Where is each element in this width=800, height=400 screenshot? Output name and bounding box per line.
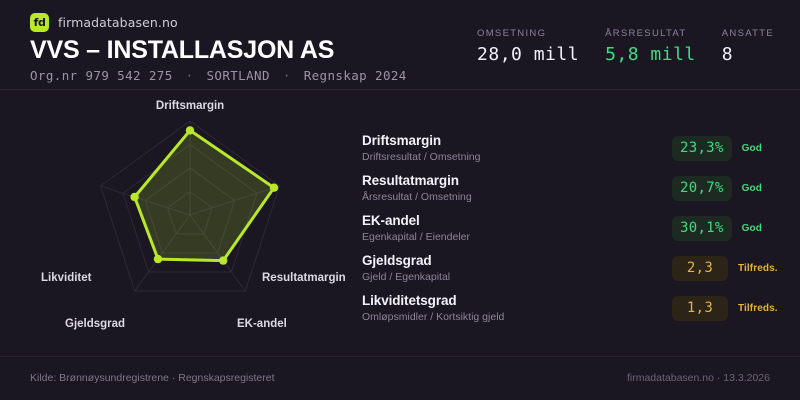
metric-name: EK-andel — [362, 213, 672, 228]
company-city: SORTLAND — [206, 68, 269, 83]
header: fd firmadatabasen.no VVS – INSTALLASJON … — [0, 0, 800, 90]
metric-value-badge: 30,1% — [672, 216, 732, 241]
kpi-label: ANSATTE — [722, 28, 774, 39]
metric-right: 1,3 Tilfreds. — [672, 296, 778, 321]
metric-name: Driftsmargin — [362, 133, 672, 148]
metric-name: Gjeldsgrad — [362, 253, 672, 268]
radar-data-point — [130, 193, 138, 201]
metric-value-badge: 2,3 — [672, 256, 728, 281]
radar-data-point — [186, 126, 194, 134]
brand-name: firmadatabasen.no — [58, 15, 178, 30]
metric-text: EK-andel Egenkapital / Eiendeler — [362, 213, 672, 243]
radar-series-area — [135, 130, 274, 260]
status-badge: God — [742, 223, 762, 234]
radar-axis-label-likviditet: Likviditet — [41, 272, 91, 284]
radar-chart: Driftsmargin Resultatmargin EK-andel Gje… — [0, 90, 355, 340]
radar-axis-label-gjeldsgrad: Gjeldsgrad — [65, 318, 125, 330]
metric-formula: Driftsresultat / Omsetning — [362, 151, 672, 163]
org-number: Org.nr 979 542 275 — [30, 68, 173, 83]
radar-axis-label-ek-andel: EK-andel — [237, 318, 287, 330]
metric-text: Gjeldsgrad Gjeld / Egenkapital — [362, 253, 672, 283]
footer: Kilde: Brønnøysundregistrene · Regnskaps… — [0, 356, 800, 400]
status-badge: God — [742, 183, 762, 194]
meta-separator: · — [181, 68, 199, 83]
metric-value-badge: 23,3% — [672, 136, 732, 161]
metric-text: Likviditetsgrad Omløpsmidler / Kortsikti… — [362, 293, 672, 323]
metric-right: 23,3% God — [672, 136, 762, 161]
metric-row-likviditetsgrad: Likviditetsgrad Omløpsmidler / Kortsikti… — [362, 288, 782, 328]
kpi-value: 8 — [722, 46, 774, 64]
page-title: VVS – INSTALLASJON AS — [30, 36, 334, 65]
company-meta: Org.nr 979 542 275 · SORTLAND · Regnskap… — [30, 68, 407, 83]
metric-text: Driftsmargin Driftsresultat / Omsetning — [362, 133, 672, 163]
radar-axis-label-resultatmargin: Resultatmargin — [262, 272, 346, 284]
metric-value-badge: 20,7% — [672, 176, 732, 201]
kpi-strip: OMSETNING 28,0 mill ÅRSRESULTAT 5,8 mill… — [477, 28, 774, 64]
kpi-omsetning: OMSETNING 28,0 mill — [477, 28, 579, 64]
status-badge: Tilfreds. — [738, 303, 778, 314]
metric-formula: Egenkapital / Eiendeler — [362, 231, 672, 243]
radar-axis-label-driftsmargin: Driftsmargin — [156, 100, 224, 112]
kpi-value: 28,0 mill — [477, 46, 579, 64]
radar-data-point — [154, 255, 162, 263]
kpi-label: ÅRSRESULTAT — [605, 28, 696, 39]
metric-right: 20,7% God — [672, 176, 762, 201]
radar-data-point — [270, 184, 278, 192]
metric-right: 2,3 Tilfreds. — [672, 256, 778, 281]
meta-separator-2: · — [278, 68, 296, 83]
metric-text: Resultatmargin Årsresultat / Omsetning — [362, 173, 672, 203]
status-badge: God — [742, 143, 762, 154]
metric-formula: Årsresultat / Omsetning — [362, 191, 672, 203]
kpi-label: OMSETNING — [477, 28, 579, 39]
metric-right: 30,1% God — [672, 216, 762, 241]
metric-formula: Omløpsmidler / Kortsiktig gjeld — [362, 311, 672, 323]
kpi-ansatte: ANSATTE 8 — [722, 28, 774, 64]
metric-row-driftsmargin: Driftsmargin Driftsresultat / Omsetning … — [362, 128, 782, 168]
firmadatabasen-logo-icon: fd — [30, 13, 49, 32]
kpi-value: 5,8 mill — [605, 46, 696, 64]
report-card: fd firmadatabasen.no VVS – INSTALLASJON … — [0, 0, 800, 400]
metric-name: Resultatmargin — [362, 173, 672, 188]
kpi-arsresultat: ÅRSRESULTAT 5,8 mill — [605, 28, 696, 64]
metric-row-ek-andel: EK-andel Egenkapital / Eiendeler 30,1% G… — [362, 208, 782, 248]
metric-name: Likviditetsgrad — [362, 293, 672, 308]
status-badge: Tilfreds. — [738, 263, 778, 274]
footer-credit: firmadatabasen.no · 13.3.2026 — [627, 372, 770, 384]
metric-value-badge: 1,3 — [672, 296, 728, 321]
brand[interactable]: fd firmadatabasen.no — [30, 13, 178, 32]
metric-row-gjeldsgrad: Gjeldsgrad Gjeld / Egenkapital 2,3 Tilfr… — [362, 248, 782, 288]
radar-chart-svg — [0, 90, 355, 340]
metric-row-resultatmargin: Resultatmargin Årsresultat / Omsetning 2… — [362, 168, 782, 208]
footer-source: Kilde: Brønnøysundregistrene · Regnskaps… — [30, 372, 275, 384]
metrics-list: Driftsmargin Driftsresultat / Omsetning … — [362, 128, 782, 328]
radar-data-point — [219, 256, 227, 264]
metric-formula: Gjeld / Egenkapital — [362, 271, 672, 283]
accounting-year: Regnskap 2024 — [304, 68, 407, 83]
